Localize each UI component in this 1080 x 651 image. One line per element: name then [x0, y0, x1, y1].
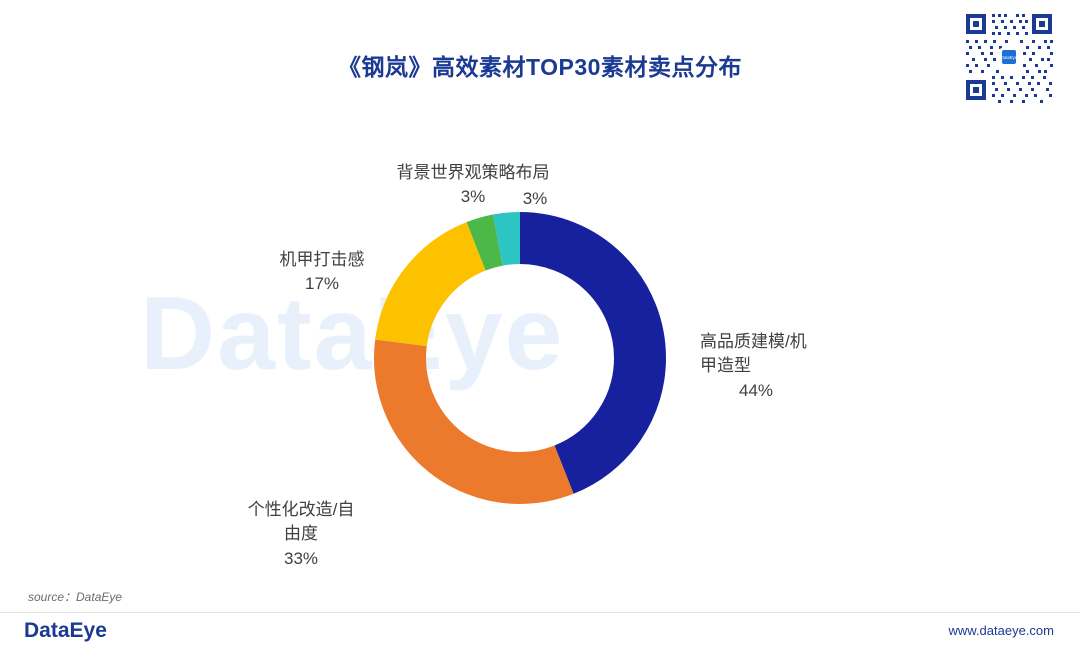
website-url[interactable]: www.dataeye.com — [949, 623, 1055, 638]
footer-divider — [0, 612, 1080, 613]
qr-code-icon: DataEye — [960, 8, 1058, 106]
slice-label-value: 17% — [262, 272, 382, 297]
slice-label-value: 44% — [700, 379, 812, 404]
brand-logo: DataEye — [24, 619, 107, 643]
page-title: 《钢岚》高效素材TOP30素材卖点分布 — [0, 48, 1080, 82]
qr-logo-label: DataEye — [1001, 55, 1018, 60]
slice-label-value: 33% — [236, 547, 366, 572]
slice-label-name: 机甲打击感 — [280, 250, 365, 269]
slice-label-name: 高品质建模/机 甲造型 — [700, 332, 807, 376]
donut-chart: 高品质建模/机 甲造型 44% 个性化改造/自 由度 33% 机甲打击感 17%… — [0, 100, 1080, 580]
slice-label-value: 3% — [500, 187, 570, 212]
slice-label-mecha-impact: 机甲打击感 17% — [262, 223, 382, 322]
slice-label-name: 个性化改造/自 由度 — [248, 500, 355, 544]
source-note: source：DataEye — [28, 588, 122, 605]
donut-rings — [350, 188, 690, 528]
slice-label-strategy-value: 3% — [500, 162, 570, 236]
slice-label-high-quality-model: 高品质建模/机 甲造型 44% — [700, 305, 830, 428]
slice-label-customization: 个性化改造/自 由度 33% — [236, 473, 366, 596]
